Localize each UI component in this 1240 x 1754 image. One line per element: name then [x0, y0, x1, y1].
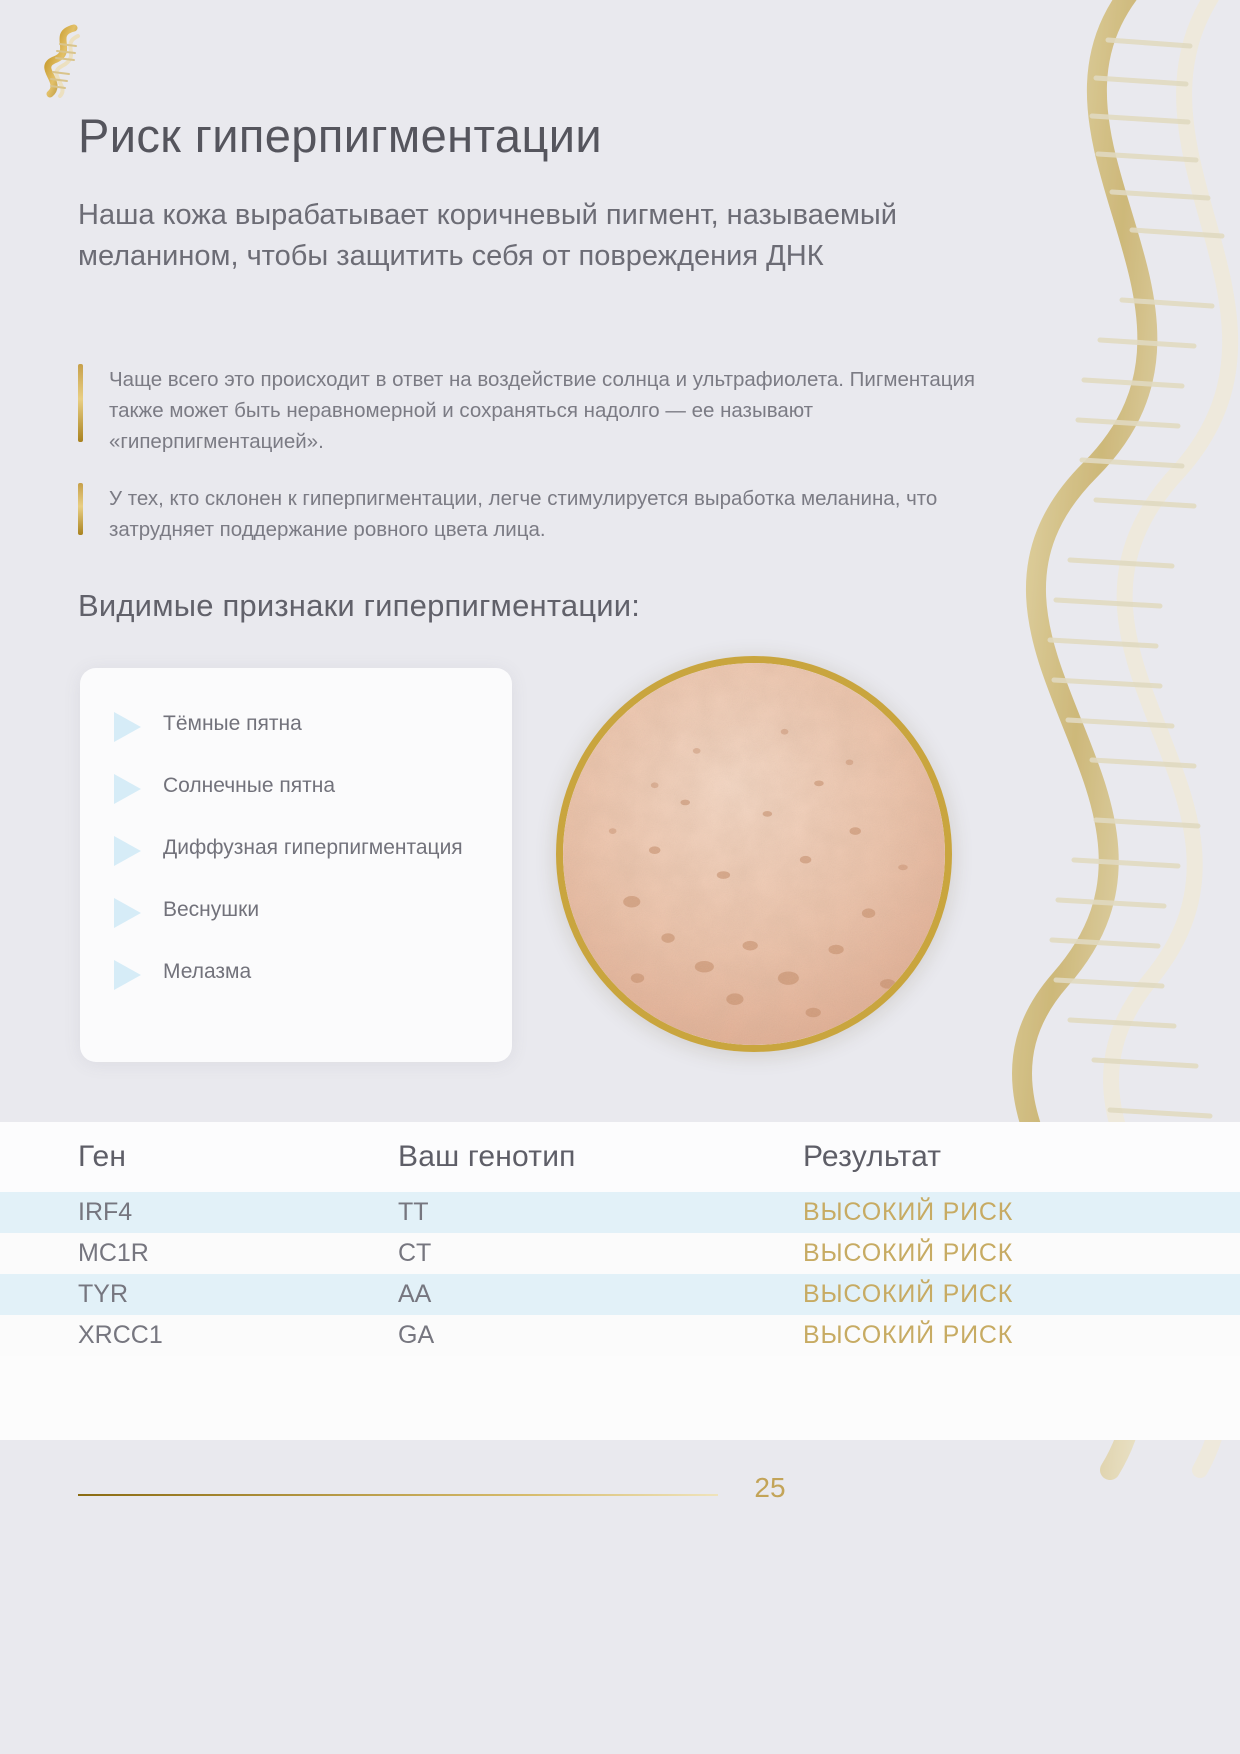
table-row: TYR AA ВЫСОКИЙ РИСК: [0, 1274, 1240, 1315]
sign-label: Мелазма: [163, 956, 251, 988]
page-title: Риск гиперпигментации: [78, 108, 602, 163]
cell-gene: IRF4: [78, 1198, 398, 1227]
report-page: Риск гиперпигментации Наша кожа вырабаты…: [0, 0, 1240, 1754]
quote-text-1: Чаще всего это происходит в ответ на воз…: [109, 364, 1008, 457]
gold-accent-bar: [78, 483, 83, 535]
photo-image: [563, 663, 945, 1045]
status-badge: ВЫСОКИЙ РИСК: [803, 1239, 1103, 1268]
dna-helix-icon: [34, 22, 96, 98]
table-header-row: Ген Ваш генотип Результат: [0, 1122, 1240, 1192]
list-item: Солнечные пятна: [80, 770, 512, 804]
cell-gene: MC1R: [78, 1239, 398, 1268]
gold-accent-bar: [78, 364, 83, 442]
signs-card: Тёмные пятна Солнечные пятна Диффузная г…: [80, 668, 512, 1062]
column-header-gene: Ген: [78, 1140, 398, 1174]
list-item: Диффузная гиперпигментация: [80, 832, 512, 866]
quote-block-1: Чаще всего это происходит в ответ на воз…: [78, 364, 1008, 457]
cell-genotype: AA: [398, 1280, 803, 1309]
signs-heading: Видимые признаки гиперпигментации:: [78, 588, 640, 624]
status-badge: ВЫСОКИЙ РИСК: [803, 1321, 1103, 1350]
status-badge: ВЫСОКИЙ РИСК: [803, 1198, 1103, 1227]
sign-label: Диффузная гиперпигментация: [163, 832, 463, 864]
triangle-right-icon: [114, 960, 141, 990]
footer-divider: [78, 1494, 718, 1496]
quote-block-2: У тех, кто склонен к гиперпигментации, л…: [78, 483, 978, 545]
cell-gene: XRCC1: [78, 1321, 398, 1350]
cell-gene: TYR: [78, 1280, 398, 1309]
genotype-table: Ген Ваш генотип Результат IRF4 TT ВЫСОКИ…: [0, 1122, 1240, 1440]
sign-label: Тёмные пятна: [163, 708, 302, 740]
skin-hyperpigmentation-photo: [556, 656, 952, 1052]
triangle-right-icon: [114, 712, 141, 742]
triangle-right-icon: [114, 898, 141, 928]
cell-genotype: TT: [398, 1198, 803, 1227]
table-row: IRF4 TT ВЫСОКИЙ РИСК: [0, 1192, 1240, 1233]
list-item: Мелазма: [80, 956, 512, 990]
cell-genotype: CT: [398, 1239, 803, 1268]
status-badge: ВЫСОКИЙ РИСК: [803, 1280, 1103, 1309]
triangle-right-icon: [114, 836, 141, 866]
list-item: Тёмные пятна: [80, 708, 512, 742]
table-footer-spacer: [0, 1356, 1240, 1440]
page-number: 25: [730, 1472, 810, 1504]
intro-paragraph: Наша кожа вырабатывает коричневый пигмен…: [78, 195, 978, 277]
column-header-genotype: Ваш генотип: [398, 1140, 803, 1174]
table-row: MC1R CT ВЫСОКИЙ РИСК: [0, 1233, 1240, 1274]
triangle-right-icon: [114, 774, 141, 804]
quote-text-2: У тех, кто склонен к гиперпигментации, л…: [109, 483, 978, 545]
sign-label: Солнечные пятна: [163, 770, 335, 802]
column-header-result: Результат: [803, 1140, 1103, 1174]
sign-label: Веснушки: [163, 894, 259, 926]
cell-genotype: GA: [398, 1321, 803, 1350]
list-item: Веснушки: [80, 894, 512, 928]
table-row: XRCC1 GA ВЫСОКИЙ РИСК: [0, 1315, 1240, 1356]
